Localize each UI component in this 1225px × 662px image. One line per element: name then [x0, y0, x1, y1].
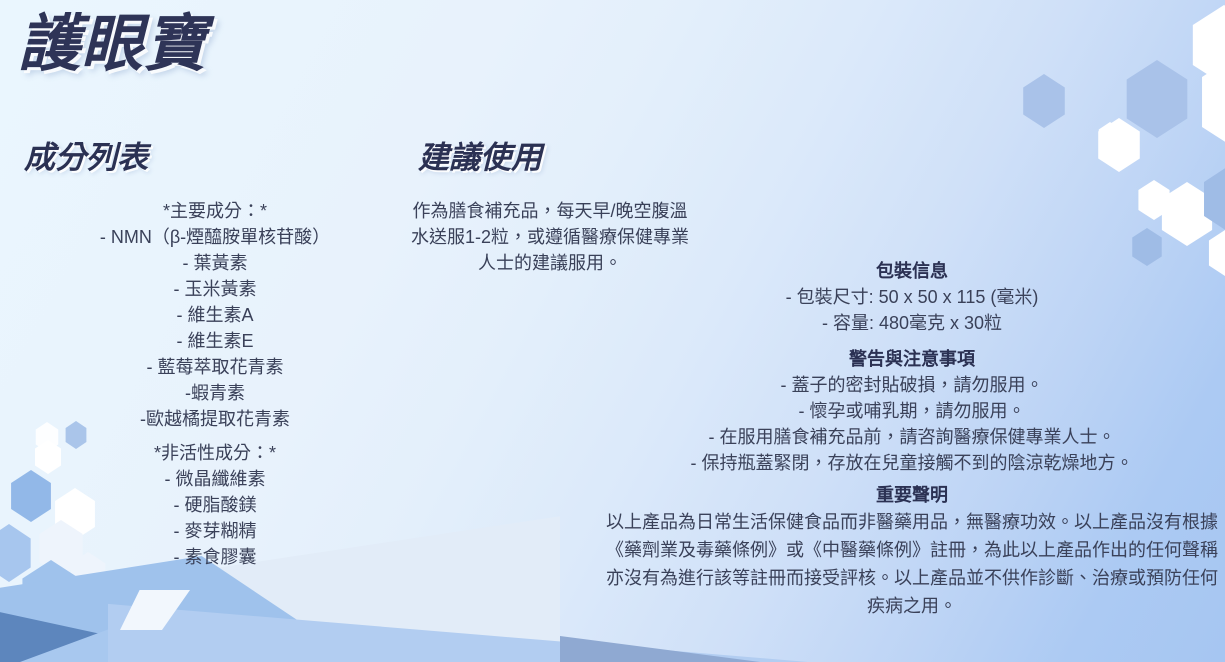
ingredients-active-list: *主要成分：* - NMN（β-煙醯胺單核苷酸） - 葉黃素 - 玉米黃素 - … — [20, 198, 410, 432]
wedge-decoration — [20, 610, 660, 662]
wedge-decoration — [0, 556, 360, 662]
wedge-decoration — [0, 598, 230, 662]
ingredients-inactive-list: *非活性成分：* - 微晶纖維素 - 硬脂酸鎂 - 麥芽糊精 - 素食膠囊 — [20, 440, 410, 570]
wedge-decoration — [560, 636, 760, 662]
warnings-title: 警告與注意事項 — [602, 346, 1222, 372]
product-info-page: 護眼寶 成分列表 *主要成分：* - NMN（β-煙醯胺單核苷酸） - 葉黃素 … — [0, 0, 1225, 662]
wedge-decoration — [120, 590, 190, 630]
section-heading-ingredients: 成分列表 — [24, 132, 148, 177]
section-heading-usage: 建議使用 — [418, 132, 542, 177]
warnings-group: 警告與注意事項 - 蓋子的密封貼破損，請勿服用。 - 懷孕或哺乳期，請勿服用。 … — [602, 346, 1222, 476]
hexagon-decoration — [1188, 5, 1225, 85]
statement-group: 重要聲明 以上產品為日常生活保健食品而非醫藥用品，無醫療功效。以上產品沒有根據《… — [602, 482, 1222, 620]
hexagon-decoration — [1136, 180, 1172, 220]
hexagon-decoration — [1200, 165, 1225, 233]
hexagon-decoration — [18, 560, 84, 634]
statement-body: 以上產品為日常生活保健食品而非醫藥用品，無醫療功效。以上產品沒有根據《藥劑業及毒… — [602, 508, 1222, 620]
hexagon-decoration — [1158, 182, 1216, 246]
packaging-info-group: 包裝信息 - 包裝尺寸: 50 x 50 x 115 (毫米) - 容量: 48… — [602, 258, 1222, 336]
hexagon-decoration — [56, 600, 96, 646]
hexagon-decoration — [0, 596, 48, 660]
hexagon-decoration — [1095, 118, 1143, 172]
hexagon-decoration — [1196, 52, 1225, 152]
hexagon-decoration — [1122, 60, 1192, 138]
packaging-info-body: - 包裝尺寸: 50 x 50 x 115 (毫米) - 容量: 480毫克 x… — [602, 284, 1222, 336]
page-title: 護眼寶 — [18, 6, 207, 84]
hexagon-decoration — [1020, 74, 1068, 128]
hexagon-decoration — [1097, 122, 1123, 152]
statement-title: 重要聲明 — [602, 482, 1222, 508]
packaging-info-title: 包裝信息 — [602, 258, 1222, 284]
warnings-body: - 蓋子的密封貼破損，請勿服用。 - 懷孕或哺乳期，請勿服用。 - 在服用膳食補… — [602, 372, 1222, 476]
